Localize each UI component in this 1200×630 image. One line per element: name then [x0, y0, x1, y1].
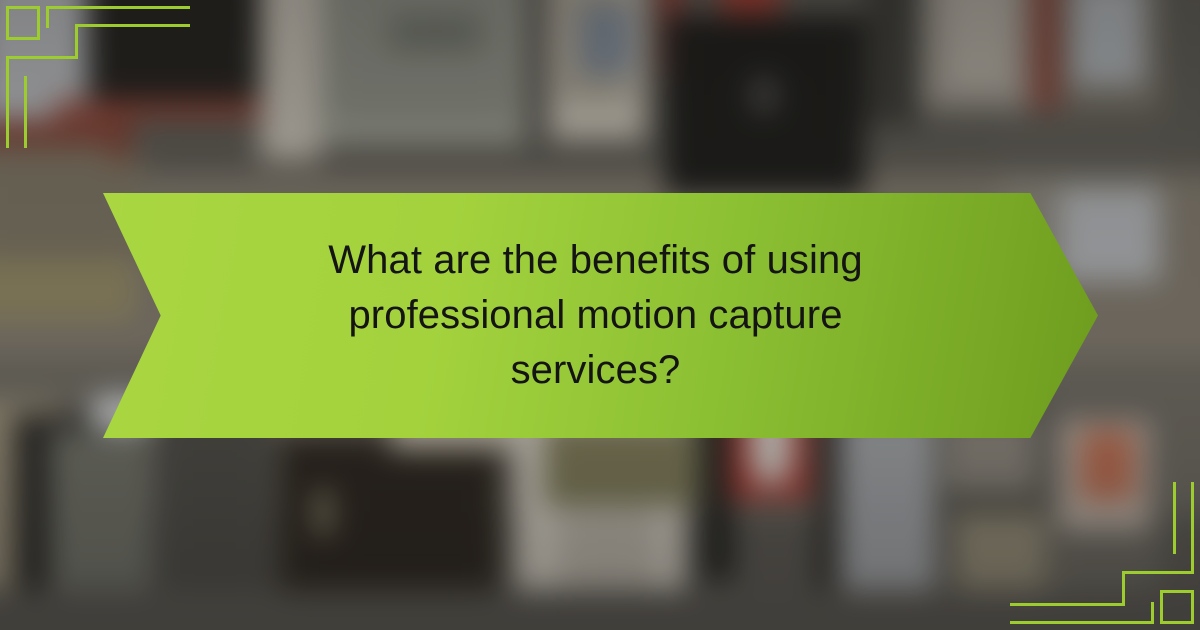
corner-line-left-inner	[24, 76, 27, 148]
corner-line-bottom-outer	[1010, 621, 1154, 624]
corner-line-right-outer	[1191, 482, 1194, 574]
corner-ornament-top-left	[0, 0, 190, 150]
banner-card: What are the benefits of using professio…	[0, 0, 1200, 630]
corner-line-top-outer	[46, 6, 190, 9]
corner-line-right-outer-lower	[1151, 602, 1154, 624]
corner-line-top-inner	[78, 24, 190, 27]
corner-line-right-inner	[1173, 482, 1176, 554]
corner-square-icon	[1160, 590, 1194, 624]
corner-line-step-vertical	[75, 24, 78, 59]
corner-line-step	[6, 56, 78, 59]
corner-ornament-bottom-right	[1010, 480, 1200, 630]
question-text: What are the benefits of using professio…	[266, 233, 926, 399]
corner-line-step	[1122, 571, 1194, 574]
corner-line-left-outer-upper	[46, 6, 49, 28]
corner-line-bottom-inner	[1010, 603, 1122, 606]
corner-square-icon	[6, 6, 40, 40]
corner-line-left-outer	[6, 56, 9, 148]
question-banner: What are the benefits of using professio…	[103, 193, 1098, 438]
corner-line-step-vertical	[1122, 571, 1125, 606]
